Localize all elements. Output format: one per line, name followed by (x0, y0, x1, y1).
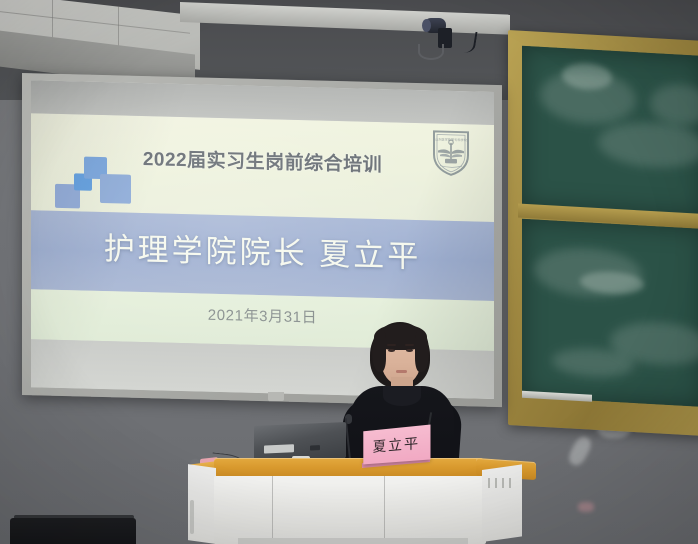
wall-pink-mark (578, 502, 594, 512)
lectern-podium: 夏立平 (188, 440, 518, 544)
svg-text:山东医学高等专科学校: 山东医学高等专科学校 (435, 136, 468, 142)
presenter-eyebrow-left (387, 344, 396, 346)
presenter-collar (383, 386, 421, 406)
wall-mounted-camera (424, 16, 470, 60)
chalkboard-panel-upper (522, 46, 698, 216)
presenter-eyebrow-right (405, 344, 414, 346)
podium-wood-trim (214, 458, 484, 478)
monitor-label-strip (264, 444, 294, 453)
podium-front-panel (214, 476, 486, 544)
presenter-hair-right (415, 332, 429, 372)
podium-side-handle (190, 500, 194, 534)
podium-right-panel (482, 464, 522, 542)
monitor-port (310, 445, 320, 450)
chalk-smudge (650, 83, 698, 126)
camera-mount-bracket (418, 44, 444, 60)
presenter-mouth (396, 370, 407, 373)
podium-panel-seam (272, 476, 273, 544)
classroom-photo-scene: 山东医学高等专科学校 2022届实习生岗前综合培训 护理学院院长 夏立平 202… (0, 0, 698, 544)
name-placard-text: 夏立平 (373, 433, 420, 457)
presenter-eye-left (388, 349, 395, 352)
chalkboard-panel-lower (522, 219, 698, 407)
presenter-eye-right (406, 349, 413, 352)
presenter-hair-left (372, 332, 386, 372)
podium-vent-slots (488, 478, 514, 488)
foreground-chair (10, 518, 136, 544)
screen-bottom-mount (268, 392, 284, 401)
ceiling-tile-seam (0, 10, 190, 34)
presentation-slide: 山东医学高等专科学校 2022届实习生岗前综合培训 护理学院院长 夏立平 202… (31, 113, 494, 351)
deco-square-4 (100, 174, 131, 204)
chalk-smudge (598, 120, 698, 170)
name-placard: 夏立平 (363, 425, 430, 465)
chalkboard (508, 30, 698, 436)
podium-base (238, 538, 468, 544)
podium-panel-seam (384, 476, 385, 544)
